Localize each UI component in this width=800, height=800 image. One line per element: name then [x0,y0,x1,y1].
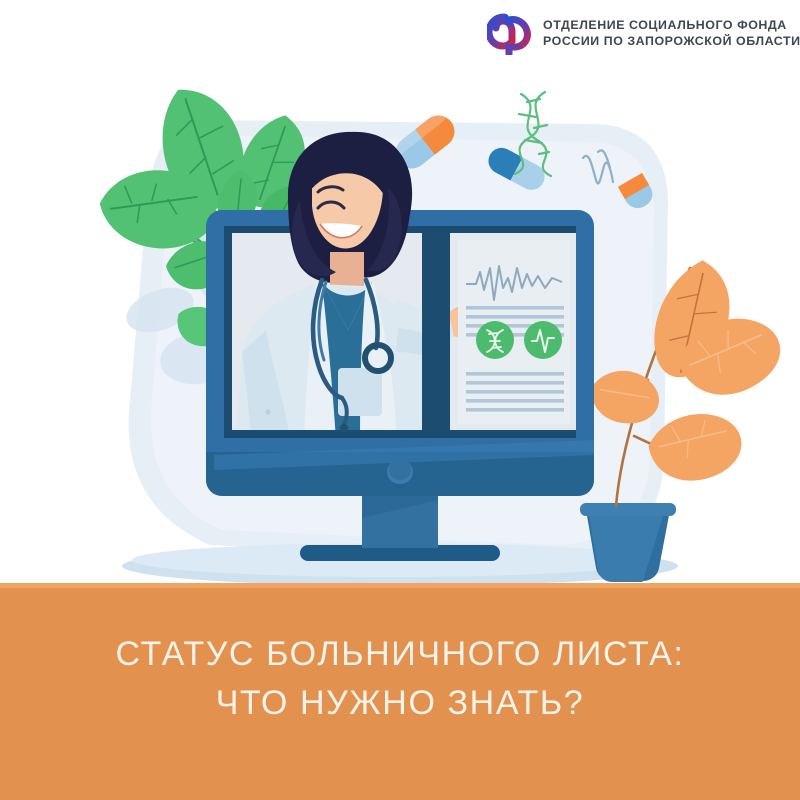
poster-title-line-1: СТАТУС БОЛЬНИЧНОГО ЛИСТА: [0,630,800,679]
doctor-neck [330,252,364,288]
screen-split-divider [422,226,450,438]
header-logo: ОТДЕЛЕНИЕ СОЦИАЛЬНОГО ФОНДА РОССИИ ПО ЗА… [487,10,787,58]
org-line-1: ОТДЕЛЕНИЕ СОЦИАЛЬНОГО ФОНДА [543,18,800,34]
banner-top-highlight [0,583,800,588]
sfr-monogram-logo-icon [487,13,533,55]
report-badge-dna [476,321,514,359]
poster-title: СТАТУС БОЛЬНИЧНОГО ЛИСТА: ЧТО НУЖНО ЗНАТ… [0,630,800,729]
poster-title-line-2: ЧТО НУЖНО ЗНАТЬ? [0,679,800,728]
report-badge-pulse [524,321,562,359]
poster-root: ОТДЕЛЕНИЕ СОЦИАЛЬНОГО ФОНДА РОССИИ ПО ЗА… [0,0,800,800]
org-line-2: РОССИИ ПО ЗАПОРОЖСКОЙ ОБЛАСТИ [543,34,800,50]
medical-report-panel [458,240,570,424]
logo-text-block: ОТДЕЛЕНИЕ СОЦИАЛЬНОГО ФОНДА РОССИИ ПО ЗА… [543,18,800,50]
